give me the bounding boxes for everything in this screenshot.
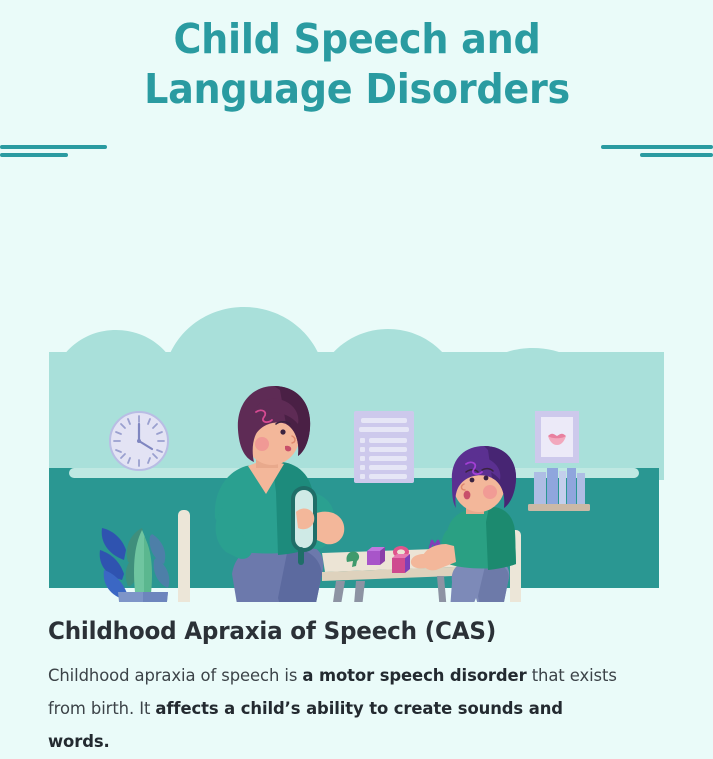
speech-therapy-illustration <box>0 162 713 602</box>
lips-poster-icon <box>535 411 579 463</box>
bookshelf-icon <box>528 468 590 511</box>
rule-right-top-line <box>601 145 713 149</box>
article-paragraph: Childhood apraxia of speech is a motor s… <box>48 660 627 759</box>
rule-left-bottom-line <box>0 153 68 157</box>
page-title: Child Speech and Language Disorders <box>96 14 617 114</box>
rule-left-top-line <box>0 145 107 149</box>
rule-right-bottom-line <box>640 153 713 157</box>
checklist-poster-icon <box>354 411 414 483</box>
paragraph-bold-1: a motor speech disorder <box>302 666 526 686</box>
page-header: Child Speech and Language Disorders <box>0 0 713 114</box>
section-heading: Childhood Apraxia of Speech (CAS) <box>48 616 640 646</box>
decorative-rules <box>0 132 713 160</box>
paragraph-text-part-1: Childhood apraxia of speech is <box>48 666 302 686</box>
article-content: Childhood Apraxia of Speech (CAS) Childh… <box>0 602 713 759</box>
wall-clock-icon <box>110 412 168 470</box>
illustration-container <box>0 162 713 602</box>
page-root: Child Speech and Language Disorders <box>0 0 713 735</box>
